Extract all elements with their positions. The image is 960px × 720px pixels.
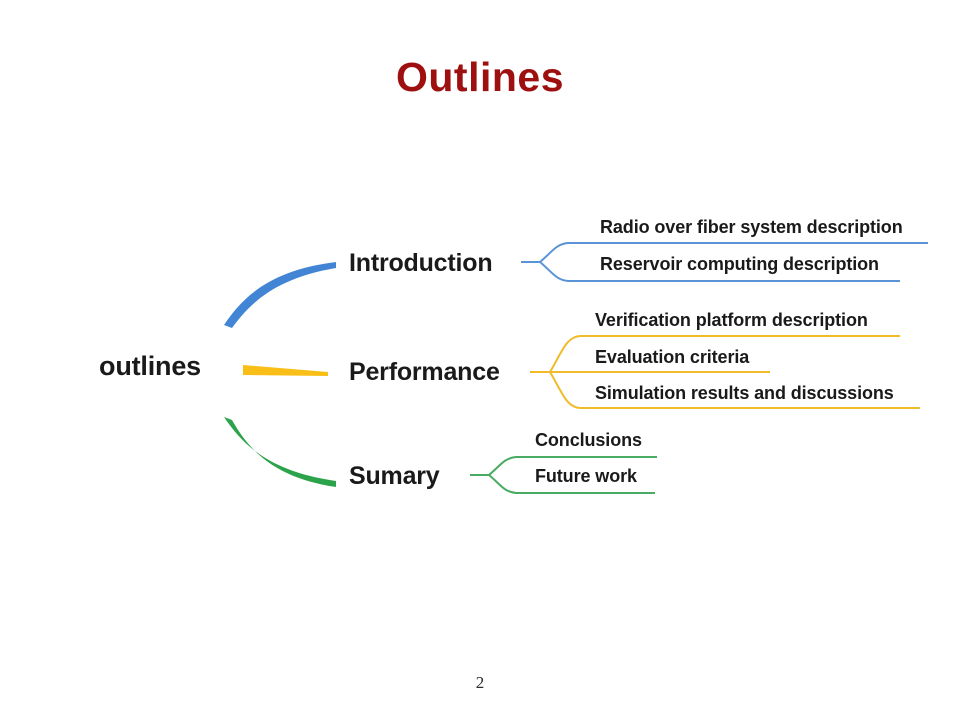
- mindmap-leaf-label[interactable]: Evaluation criteria: [595, 347, 749, 368]
- mindmap-leaf-label[interactable]: Verification platform description: [595, 310, 868, 331]
- mindmap-branch-label-introduction[interactable]: Introduction: [349, 249, 492, 278]
- page-number: 2: [0, 673, 960, 693]
- page-title: Outlines: [0, 54, 960, 101]
- branch-straight-icon: [243, 365, 328, 376]
- mindmap-branch-label-sumary[interactable]: Sumary: [349, 462, 440, 491]
- branch-curve-down-icon: [224, 417, 336, 487]
- mindmap-leaf-label[interactable]: Conclusions: [535, 430, 642, 451]
- mindmap-leaf-label[interactable]: Radio over fiber system description: [600, 217, 903, 238]
- branch-curve-up-icon: [224, 262, 336, 328]
- mindmap-branch-label-performance[interactable]: Performance: [349, 358, 500, 387]
- mindmap-leaf-label[interactable]: Future work: [535, 466, 637, 487]
- mindmap-leaf-label[interactable]: Reservoir computing description: [600, 254, 879, 275]
- slide-canvas: Outlines outlines Introduction Performan…: [0, 0, 960, 720]
- mindmap-leaf-label[interactable]: Simulation results and discussions: [595, 383, 894, 404]
- mindmap-root-label[interactable]: outlines: [60, 351, 240, 382]
